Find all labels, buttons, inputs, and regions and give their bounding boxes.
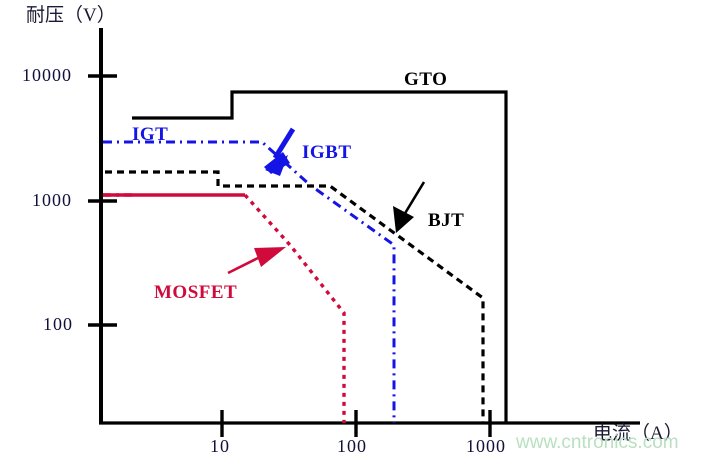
series-label-igt: IGT — [132, 125, 168, 144]
annotation-arrow-mosfet — [228, 247, 286, 273]
annotation-arrow-igbt — [264, 129, 293, 176]
series-mosfet — [103, 195, 344, 423]
series-label-bjt: BJT — [428, 211, 464, 230]
y-axis-title: 耐压（V） — [26, 6, 116, 25]
y-tick-label-10000: 10000 — [22, 66, 72, 84]
x-tick-label-1000: 1000 — [466, 437, 506, 455]
series-label-igbt: IGBT — [302, 143, 352, 162]
x-tick-label-100: 100 — [337, 437, 367, 455]
series-label-mosfet: MOSFET — [154, 283, 237, 302]
axes-group — [88, 28, 640, 437]
series-igt — [103, 142, 394, 423]
x-tick-label-10: 10 — [210, 437, 230, 455]
y-tick-label-100: 100 — [43, 315, 73, 333]
x-axis-title: 电流（A） — [593, 424, 683, 443]
series-label-gto: GTO — [404, 70, 447, 89]
chart-plot-svg — [0, 0, 701, 457]
chart-canvas: 耐压（V） 电流（A） 10000 1000 100 10 100 1000 I… — [0, 0, 701, 457]
y-tick-label-1000: 1000 — [32, 191, 72, 209]
annotation-arrow-bjt — [393, 182, 424, 233]
